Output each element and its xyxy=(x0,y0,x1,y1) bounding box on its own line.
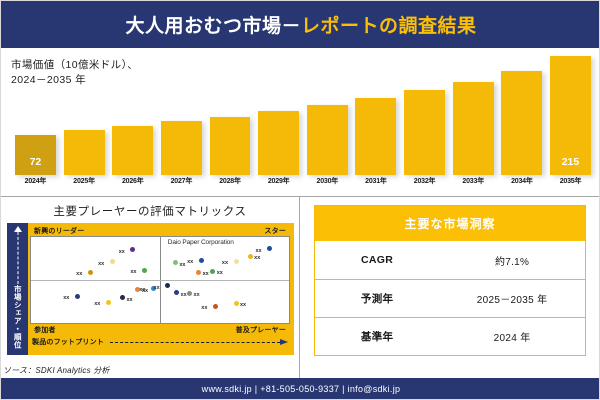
insights-row-key: 基準年 xyxy=(315,329,439,344)
x-tick-2030年: 2030年 xyxy=(307,176,348,186)
matrix-data-point xyxy=(267,246,272,251)
x-tick-2028年: 2028年 xyxy=(210,176,251,186)
matrix-point-label: xx xyxy=(126,297,132,303)
bar-2035年: 215 xyxy=(550,56,591,175)
matrix-x-axis: 製品のフットプリント xyxy=(30,335,290,349)
matrix-point-label: xx xyxy=(139,287,145,293)
bar-series: 72215 xyxy=(15,56,591,175)
page-footer: www.sdki.jp | +81-505-050-9337 | info@sd… xyxy=(1,378,600,399)
bar-2026年 xyxy=(112,126,153,175)
insights-row-value: 2024 年 xyxy=(439,329,585,344)
x-tick-2026年: 2026年 xyxy=(112,176,153,186)
bar-value-label: 215 xyxy=(550,156,591,168)
insights-row: 予測年2025－2035 年 xyxy=(315,279,585,317)
bar-2029年 xyxy=(258,111,299,175)
matrix-data-point xyxy=(130,247,135,252)
right-arrow-icon xyxy=(110,342,280,343)
matrix-data-point xyxy=(106,300,111,305)
matrix-point-label: xx xyxy=(179,262,185,268)
matrix-point-label: xx xyxy=(181,292,187,298)
bar-2034年 xyxy=(501,71,542,175)
matrix-y-axis: 市場シェア・順位 xyxy=(7,223,28,355)
chart-plot-area: 72215 xyxy=(15,56,591,175)
matrix-data-point xyxy=(110,259,115,264)
matrix-point-label: xx xyxy=(217,270,223,276)
quadrant-label-emerging-leader: 新興のリーダー xyxy=(34,226,84,236)
matrix-point-label: xx xyxy=(203,271,209,277)
quadrant-label-pervasive-player: 普及プレーヤー xyxy=(236,325,286,335)
matrix-point-label: xx xyxy=(187,259,193,265)
matrix-point-label: xx xyxy=(255,248,261,254)
bar-2030年 xyxy=(307,105,348,175)
matrix-x-axis-label: 製品のフットプリント xyxy=(32,337,104,347)
insights-row-key: CAGR xyxy=(315,254,439,266)
matrix-point-label: xx xyxy=(154,285,160,291)
page-title: 大人用おむつ市場－レポートの調査結果 xyxy=(125,11,476,38)
x-tick-2035年: 2035年 xyxy=(550,176,591,186)
y-axis-dashed-line xyxy=(17,232,18,284)
matrix-point-label: xx xyxy=(94,301,100,307)
bar-slot xyxy=(355,56,396,175)
x-tick-2032年: 2032年 xyxy=(404,176,445,186)
bar-slot xyxy=(112,56,153,175)
x-tick-2034年: 2034年 xyxy=(501,176,542,186)
matrix-top-labels: 新興のリーダー スター xyxy=(30,225,290,236)
insights-row-key: 予測年 xyxy=(315,291,439,306)
matrix-point-label: xx xyxy=(240,302,246,308)
bar-slot: 72 xyxy=(15,56,56,175)
x-tick-2024年: 2024年 xyxy=(15,176,56,186)
bar-slot xyxy=(501,56,542,175)
bottom-section: 主要プレーヤーの評価マトリックス 市場シェア・順位 新興のリーダー スター xyxy=(1,196,600,380)
bar-2032年 xyxy=(404,90,445,175)
highlight-company-label: Daio Paper Corporation xyxy=(168,239,234,246)
matrix-chart: 市場シェア・順位 新興のリーダー スター Daio Paper Corporat… xyxy=(7,223,294,355)
bar-slot xyxy=(64,56,105,175)
matrix-data-point xyxy=(142,268,147,273)
player-matrix-panel: 主要プレーヤーの評価マトリックス 市場シェア・順位 新興のリーダー スター xyxy=(1,196,300,380)
bar-value-label: 72 xyxy=(15,156,56,168)
bar-slot xyxy=(404,56,445,175)
matrix-point-label: xx xyxy=(194,292,200,298)
matrix-horizontal-divider xyxy=(31,280,289,281)
matrix-point-label: xx xyxy=(130,269,136,275)
matrix-data-point xyxy=(213,304,218,309)
matrix-data-point xyxy=(120,295,125,300)
bar-slot xyxy=(161,56,202,175)
bar-slot xyxy=(210,56,251,175)
bar-slot: 215 xyxy=(550,56,591,175)
insights-row: CAGR約7.1% xyxy=(315,241,585,279)
source-note: ソース：SDKI Analytics 分析 xyxy=(3,365,110,376)
insights-row: 基準年2024 年 xyxy=(315,317,585,355)
page-header: 大人用おむつ市場－レポートの調査結果 xyxy=(1,1,600,48)
matrix-data-point xyxy=(210,269,215,274)
x-tick-2025年: 2025年 xyxy=(64,176,105,186)
bar-2028年 xyxy=(210,117,251,175)
insights-row-value: 2025－2035 年 xyxy=(439,291,585,306)
x-tick-2031年: 2031年 xyxy=(355,176,396,186)
matrix-data-point xyxy=(165,283,170,288)
matrix-point-label: xx xyxy=(63,295,69,301)
bar-2024年: 72 xyxy=(15,135,56,175)
matrix-data-point xyxy=(75,294,80,299)
page-title-accent: レポートの調査結果 xyxy=(301,16,477,37)
insights-table-body: CAGR約7.1%予測年2025－2035 年基準年2024 年 xyxy=(315,241,585,355)
x-tick-2027年: 2027年 xyxy=(161,176,202,186)
x-tick-2029年: 2029年 xyxy=(258,176,299,186)
insights-table: 主要な市場洞察 CAGR約7.1%予測年2025－2035 年基準年2024 年 xyxy=(314,205,586,356)
bar-slot xyxy=(258,56,299,175)
matrix-data-point xyxy=(196,270,201,275)
matrix-grid: Daio Paper Corporation xxxxxxxxxxxxxxxxx… xyxy=(30,236,290,324)
bar-2027年 xyxy=(161,121,202,175)
matrix-point-label: xx xyxy=(119,249,125,255)
insights-row-value: 約7.1% xyxy=(439,253,585,268)
bar-2033年 xyxy=(453,82,494,175)
matrix-data-point xyxy=(248,254,253,259)
matrix-data-point xyxy=(199,258,204,263)
insights-table-title: 主要な市場洞察 xyxy=(315,206,585,241)
matrix-data-point xyxy=(88,270,93,275)
matrix-y-axis-label: 市場シェア・順位 xyxy=(14,285,22,349)
chart-x-axis-labels: 2024年2025年2026年2027年2028年2029年2030年2031年… xyxy=(15,176,591,186)
bar-2025年 xyxy=(64,130,105,175)
key-insights-panel: 主要な市場洞察 CAGR約7.1%予測年2025－2035 年基準年2024 年 xyxy=(300,196,600,380)
page-title-primary: 大人用おむつ市場－ xyxy=(125,16,301,37)
matrix-point-label: xx xyxy=(201,305,207,311)
market-value-bar-chart: 市場価値（10億米ドル）、 2024－2035 年 72215 2024年202… xyxy=(1,48,600,196)
matrix-data-point xyxy=(174,290,179,295)
matrix-point-label: xx xyxy=(76,271,82,277)
matrix-data-point xyxy=(187,291,192,296)
matrix-data-point xyxy=(234,301,239,306)
bar-slot xyxy=(307,56,348,175)
matrix-data-point xyxy=(234,259,239,264)
matrix-point-label: xx xyxy=(98,261,104,267)
quadrant-label-participant: 参加者 xyxy=(34,325,56,335)
bar-2031年 xyxy=(355,98,396,175)
bar-slot xyxy=(453,56,494,175)
matrix-data-point xyxy=(173,260,178,265)
matrix-point-label: xx xyxy=(222,260,228,266)
quadrant-label-star: スター xyxy=(264,226,286,236)
report-infographic: 大人用おむつ市場－レポートの調査結果 市場価値（10億米ドル）、 2024－20… xyxy=(0,0,600,400)
matrix-panel-title: 主要プレーヤーの評価マトリックス xyxy=(7,203,293,219)
footer-contact-text: www.sdki.jp | +81-505-050-9337 | info@sd… xyxy=(202,384,401,394)
x-tick-2033年: 2033年 xyxy=(453,176,494,186)
matrix-body: 新興のリーダー スター Daio Paper Corporation xxxxx… xyxy=(28,223,294,355)
matrix-bottom-labels: 参加者 普及プレーヤー xyxy=(30,324,290,335)
matrix-point-label: xx xyxy=(254,255,260,261)
